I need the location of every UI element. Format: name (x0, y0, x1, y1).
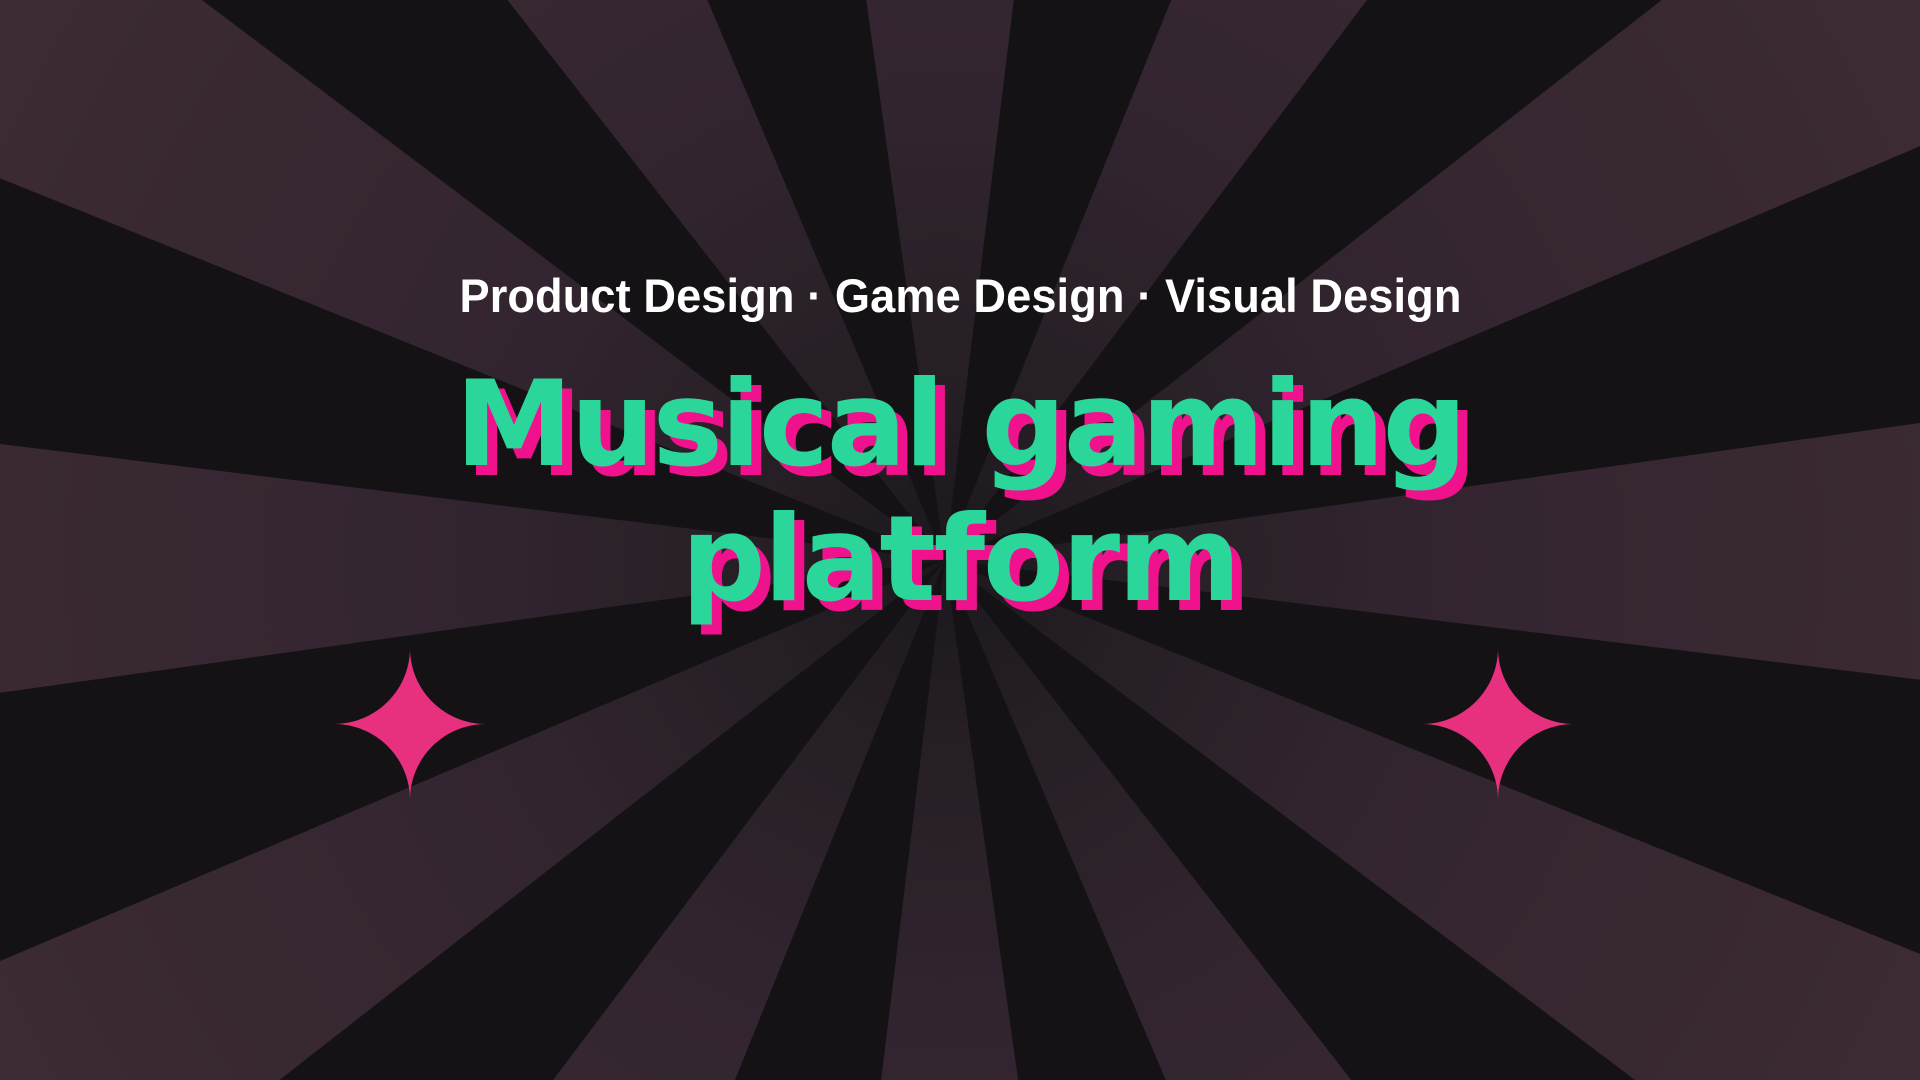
hero-headline: Musical gaming platform Musical gaming p… (0, 357, 1920, 627)
headline-line-2: platform (0, 492, 1920, 627)
sparkle-star-icon-right (1422, 648, 1574, 800)
headline-fill-layer: Musical gaming platform (0, 357, 1920, 627)
sparkle-star-icon-left (334, 648, 486, 800)
hero-banner: Product Design · Game Design · Visual De… (0, 0, 1920, 1080)
hero-content: Product Design · Game Design · Visual De… (0, 0, 1920, 1080)
hero-eyebrow: Product Design · Game Design · Visual De… (459, 272, 1461, 319)
headline-line-1: Musical gaming (0, 357, 1920, 492)
